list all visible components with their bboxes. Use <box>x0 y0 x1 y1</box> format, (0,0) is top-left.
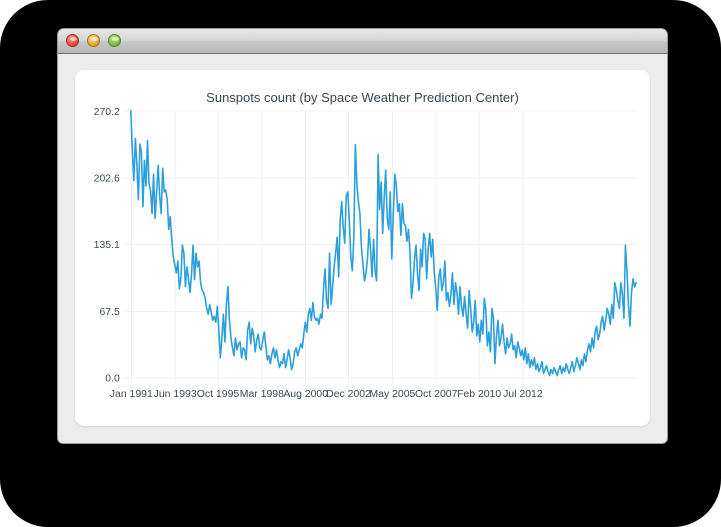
application-window: Sunspots count (by Space Weather Predict… <box>57 28 668 444</box>
window-body: Sunspots count (by Space Weather Predict… <box>58 54 667 443</box>
minimize-button-icon[interactable] <box>87 34 100 47</box>
maximize-button-icon[interactable] <box>108 34 121 47</box>
xtick-label: Mar 1998 <box>240 389 284 400</box>
ytick-label: 0.0 <box>105 374 120 385</box>
sunspot-count-line <box>131 111 636 376</box>
ytick-label: 67.5 <box>99 307 120 318</box>
xtick-label: Aug 2000 <box>283 389 328 400</box>
ytick-label: 202.6 <box>94 174 120 185</box>
xtick-label: Oct 1995 <box>197 389 240 400</box>
sunspots-line-chart: 0.067.5135.1202.6270.2 Jan 1991Jun 1993O… <box>75 70 650 426</box>
chart-series-group <box>131 111 636 376</box>
window-titlebar[interactable] <box>58 29 667 54</box>
window-controls <box>66 34 121 47</box>
xtick-label: Oct 2007 <box>415 389 458 400</box>
xtick-label: Jan 1991 <box>110 389 153 400</box>
xtick-label: Feb 2010 <box>457 389 501 400</box>
chart-panel: Sunspots count (by Space Weather Predict… <box>75 70 650 426</box>
xtick-label: May 2005 <box>369 389 415 400</box>
xtick-label: Jul 2012 <box>503 389 543 400</box>
chart-gridlines <box>125 111 636 384</box>
ytick-label: 270.2 <box>94 107 120 118</box>
close-button-icon[interactable] <box>66 34 79 47</box>
xtick-label: Jun 1993 <box>154 389 197 400</box>
chart-ytick-labels: 0.067.5135.1202.6270.2 <box>94 107 120 385</box>
ytick-label: 135.1 <box>94 240 120 251</box>
xtick-label: Dec 2002 <box>326 389 371 400</box>
chart-xtick-labels: Jan 1991Jun 1993Oct 1995Mar 1998Aug 2000… <box>110 389 543 400</box>
